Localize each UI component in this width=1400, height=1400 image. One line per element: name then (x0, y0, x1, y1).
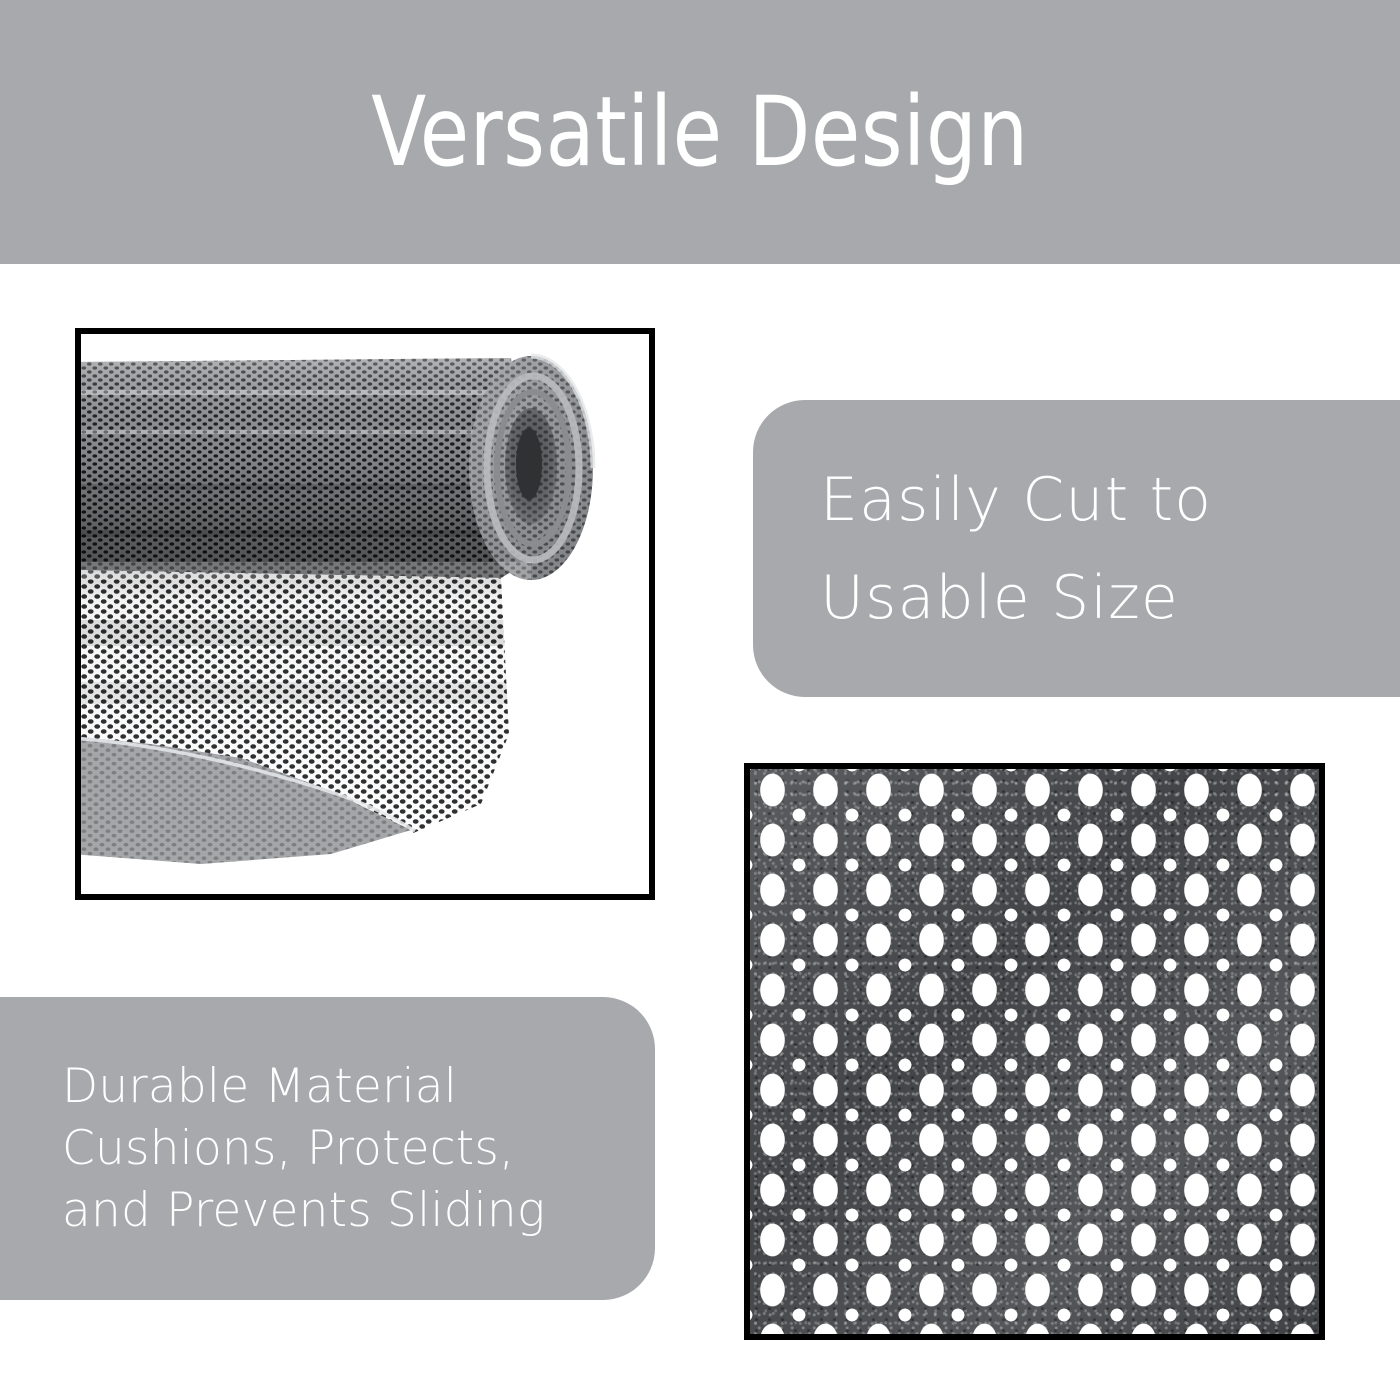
product-roll-photo (75, 328, 655, 900)
card-durable-line-1: Durable Material (62, 1056, 655, 1118)
product-roll-illustration (81, 334, 649, 894)
page-title: Versatile Design (49, 0, 1351, 264)
card-durable-line-3: and Prevents Sliding (62, 1180, 655, 1242)
card-durable: Durable Material Cushions, Protects, and… (0, 997, 655, 1300)
card-easily-cut-line-1: Easily Cut to (820, 451, 1400, 549)
product-roll-image (81, 334, 649, 894)
roll-end (469, 356, 593, 580)
mesh-closeup-photo (744, 763, 1325, 1340)
card-easily-cut-line-2: Usable Size (820, 549, 1400, 647)
mesh-closeup-image (750, 769, 1319, 1334)
card-easily-cut: Easily Cut to Usable Size (753, 400, 1400, 697)
mesh-texture (746, 765, 1323, 1338)
card-durable-line-2: Cushions, Protects, (62, 1118, 655, 1180)
header-banner: Versatile Design (0, 0, 1400, 264)
